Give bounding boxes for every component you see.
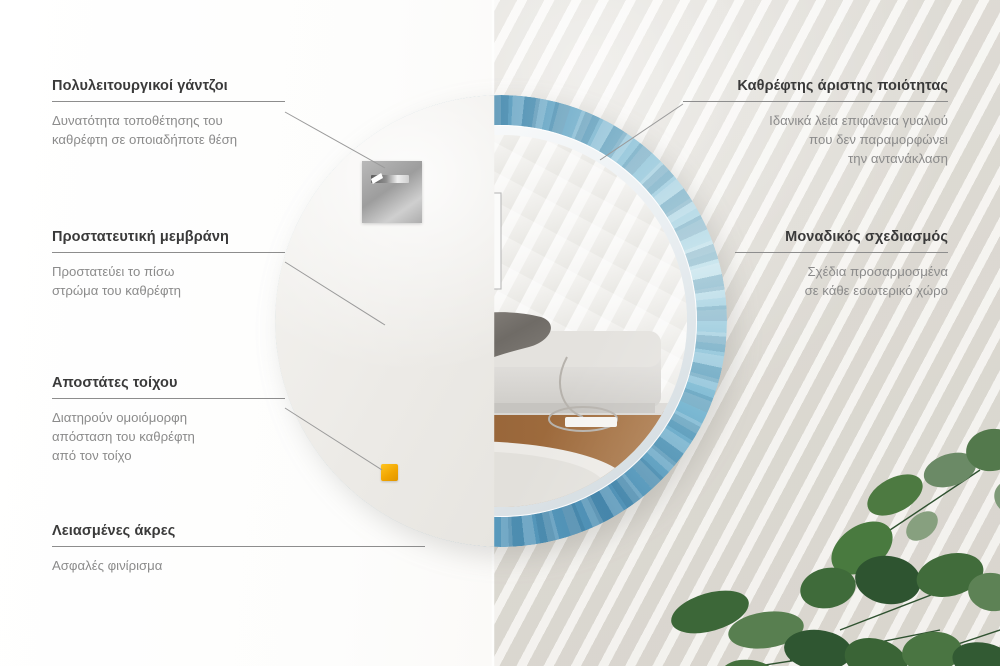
callout-design-title: Μοναδικός σχεδιασμός — [735, 229, 948, 245]
callout-edges-title: Λειασμένες άκρες — [52, 523, 425, 539]
callout-membrane-title: Προστατευτική μεμβράνη — [52, 229, 285, 245]
callout-membrane: Προστατευτική μεμβράνη Προστατεύει το πί… — [52, 229, 285, 300]
callout-spacers-title: Αποστάτες τοίχου — [52, 375, 285, 391]
callout-spacers: Αποστάτες τοίχου Διατηρούν ομοιόμορφη απ… — [52, 375, 285, 465]
callout-edges: Λειασμένες άκρες Ασφαλές φινίρισμα — [52, 523, 425, 575]
callout-quality-title: Καθρέφτης άριστης ποιότητας — [683, 78, 948, 94]
hook-slot-icon — [371, 175, 409, 183]
hook-mounting-plate — [362, 161, 422, 223]
callout-quality: Καθρέφτης άριστης ποιότητας Ιδανικά λεία… — [683, 78, 948, 168]
callout-hooks-title: Πολυλειτουργικοί γάντζοι — [52, 78, 285, 94]
callout-design-rule — [735, 252, 948, 253]
wall-spacer — [381, 464, 398, 481]
callout-spacers-rule — [52, 398, 285, 399]
callout-spacers-desc: Διατηρούν ομοιόμορφη απόσταση του καθρέφ… — [52, 408, 285, 465]
product-mirror — [275, 95, 727, 547]
callout-membrane-desc: Προστατεύει το πίσω στρώμα του καθρέφτη — [52, 262, 285, 300]
callout-design: Μοναδικός σχεδιασμός Σχέδια προσαρμοσμέν… — [735, 229, 948, 300]
callout-design-desc: Σχέδια προσαρμοσμένα σε κάθε εσωτερικό χ… — [735, 262, 948, 300]
callout-quality-rule — [683, 101, 948, 102]
infographic-stage: Πολυλειτουργικοί γάντζοι Δυνατότητα τοπο… — [0, 0, 1000, 666]
callout-hooks-rule — [52, 101, 285, 102]
callout-hooks: Πολυλειτουργικοί γάντζοι Δυνατότητα τοπο… — [52, 78, 285, 149]
callout-hooks-desc: Δυνατότητα τοποθέτησης του καθρέφτη σε ο… — [52, 111, 285, 149]
callout-membrane-rule — [52, 252, 285, 253]
callout-edges-desc: Ασφαλές φινίρισμα — [52, 556, 425, 575]
callout-quality-desc: Ιδανικά λεία επιφάνεια γυαλιού που δεν π… — [683, 111, 948, 168]
mirror-disc — [275, 95, 727, 547]
callout-edges-rule — [52, 546, 425, 547]
